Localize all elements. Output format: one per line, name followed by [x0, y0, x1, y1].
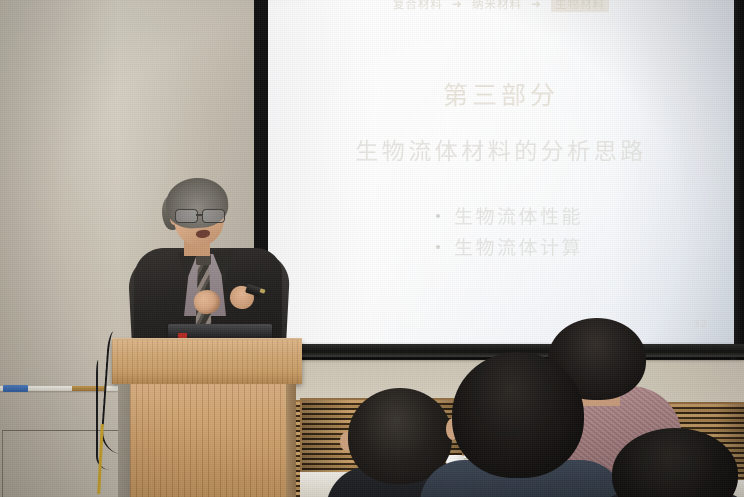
list-item: 生物流体性能	[436, 200, 583, 231]
bullet-dot-icon	[436, 245, 440, 249]
breadcrumb-item-3: 生物材料	[551, 0, 609, 12]
projection-screen: 复合材料 ➜ 纳米材料 ➜ 生物材料 第三部分 生物流体材料的分析思路 生物流体…	[268, 0, 734, 346]
breadcrumb-arrow-icon: ➜	[452, 0, 463, 11]
lecture-hall-photo: 复合材料 ➜ 纳米材料 ➜ 生物材料 第三部分 生物流体材料的分析思路 生物流体…	[0, 0, 744, 497]
slide-breadcrumb: 复合材料 ➜ 纳米材料 ➜ 生物材料	[268, 0, 734, 12]
podium-right-edge	[286, 384, 296, 497]
breadcrumb-item-2: 纳米材料	[472, 0, 522, 12]
glasses-lens-right	[202, 209, 225, 223]
projector-glow	[268, 0, 734, 346]
glasses-lens-left	[175, 209, 198, 223]
bullet-dot-icon	[436, 214, 440, 218]
slide-bullet-list: 生物流体性能 生物流体计算	[436, 200, 583, 262]
wall-trim-blue-cap	[3, 385, 28, 392]
breadcrumb-arrow-icon: ➜	[531, 0, 542, 11]
podium-top	[112, 340, 302, 384]
glasses-icon	[175, 209, 225, 221]
bullet-label: 生物流体计算	[454, 233, 583, 260]
podium-body	[130, 384, 288, 497]
slide-title: 第三部分	[268, 76, 734, 112]
audience-member-front-center-head	[452, 352, 584, 478]
slide-number: 32	[693, 319, 708, 330]
breadcrumb-item-1: 复合材料	[393, 0, 443, 12]
list-item: 生物流体计算	[436, 231, 583, 262]
screen-vignette	[268, 0, 734, 346]
slide-subtitle: 生物流体材料的分析思路	[268, 132, 734, 166]
bullet-label: 生物流体性能	[454, 202, 583, 229]
